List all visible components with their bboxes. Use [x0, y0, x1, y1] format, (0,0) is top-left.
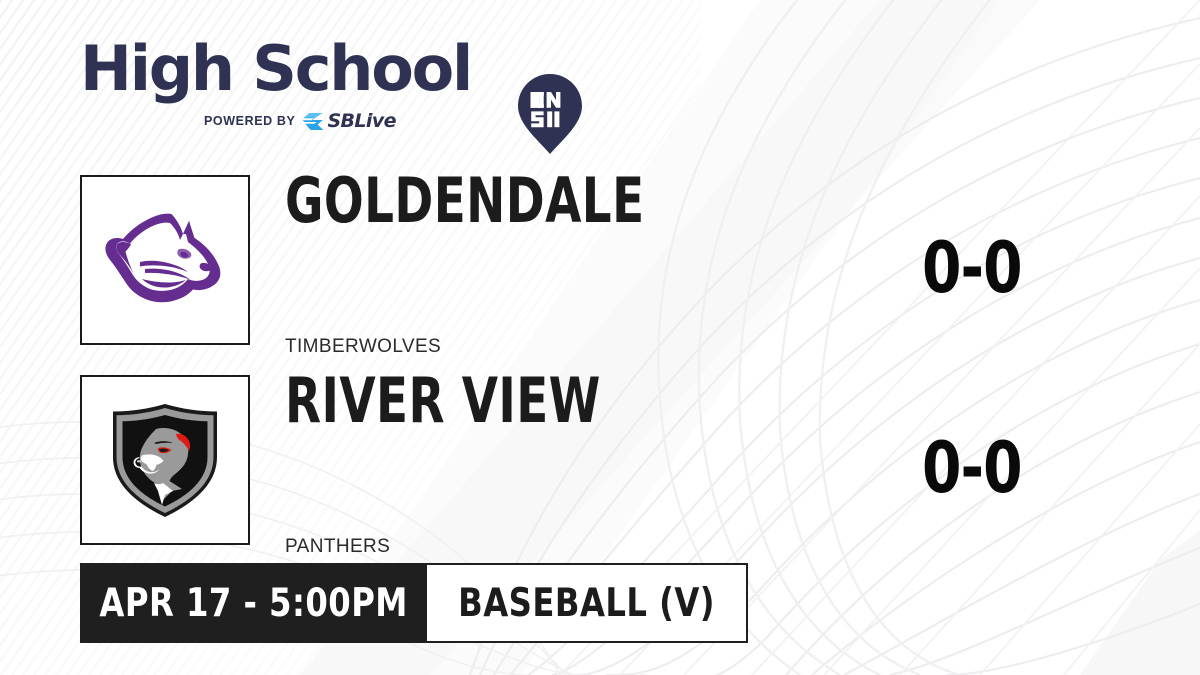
- team-logo-river-view: [80, 375, 250, 545]
- game-datetime: APR 17 - 5:00PM: [99, 584, 407, 623]
- team-mascot: PANTHERS: [285, 537, 390, 556]
- game-info-bar: APR 17 - 5:00PM BASEBALL (V): [80, 563, 748, 643]
- game-sport: BASEBALL (V): [458, 584, 715, 623]
- team-row: GOLDENDALE TIMBERWOLVES 0-0: [80, 175, 1120, 347]
- team-info-goldendale: GOLDENDALE TIMBERWOLVES: [285, 175, 845, 347]
- team-logo-goldendale: [80, 175, 250, 345]
- team-score: 0-0: [922, 233, 1174, 303]
- powered-by-row: POWERED BY SBLive: [204, 111, 396, 131]
- onsi-pin-icon: [516, 72, 584, 156]
- team-name: RIVER VIEW: [285, 370, 601, 432]
- scoreboard-card: High School POW: [0, 0, 1200, 675]
- sblive-s-icon: [302, 112, 324, 131]
- sblive-logo: SBLive: [302, 112, 395, 131]
- timberwolf-head-logo: [95, 190, 235, 330]
- brand-header: High School POW: [80, 36, 540, 136]
- game-datetime-block: APR 17 - 5:00PM: [80, 563, 427, 643]
- page-title: High School: [80, 38, 471, 100]
- sblive-wordmark: SBLive: [327, 112, 395, 131]
- team-mascot: TIMBERWOLVES: [285, 337, 441, 356]
- team-row: RIVER VIEW PANTHERS 0-0: [80, 375, 1120, 547]
- team-score: 0-0: [922, 433, 1174, 503]
- team-info-river-view: RIVER VIEW PANTHERS: [285, 375, 845, 547]
- game-sport-block: BASEBALL (V): [427, 563, 748, 643]
- team-name: GOLDENDALE: [285, 170, 645, 232]
- powered-by-label: POWERED BY: [204, 115, 295, 128]
- panther-shield-logo: [98, 393, 232, 527]
